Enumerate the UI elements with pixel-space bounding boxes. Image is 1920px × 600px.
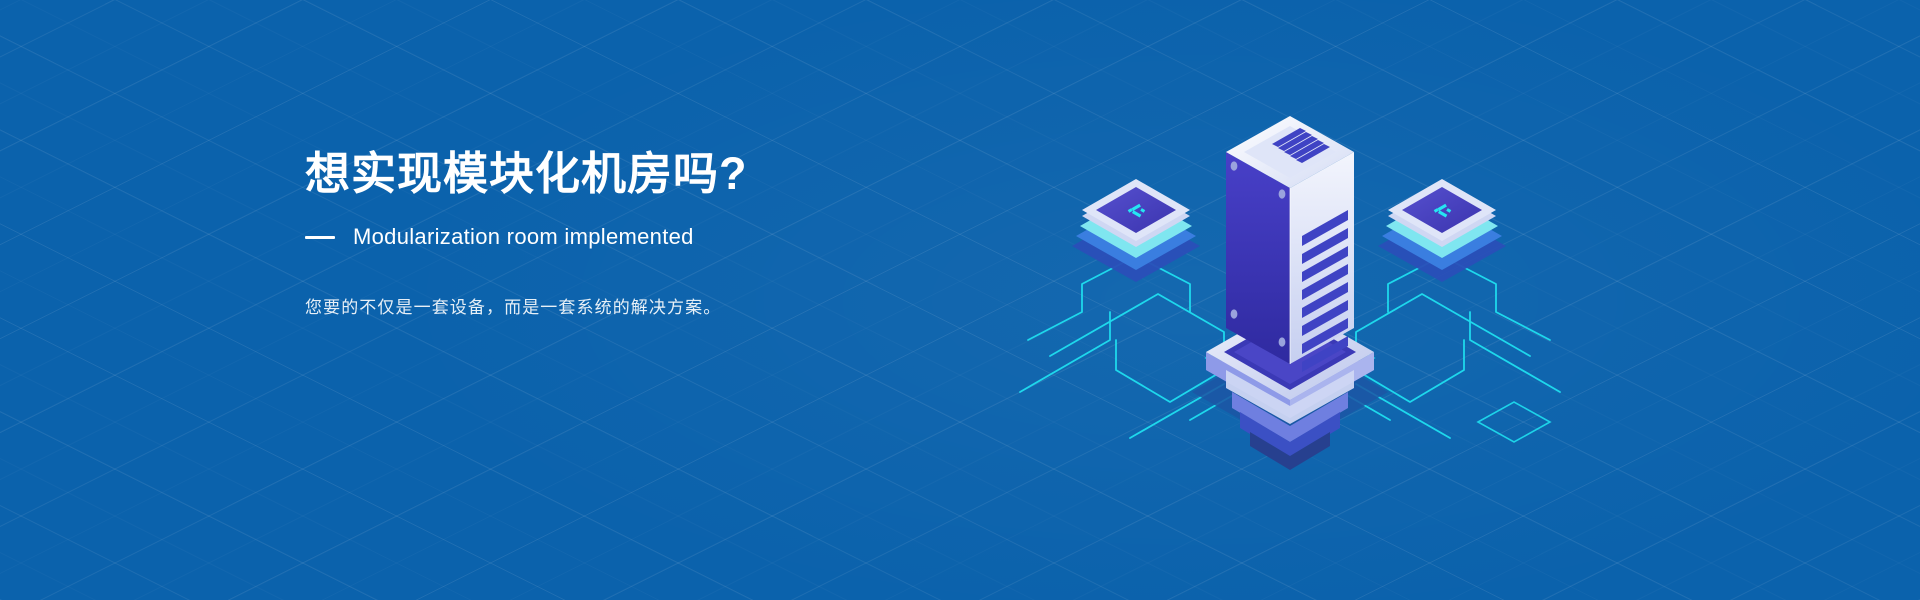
chip-left xyxy=(1072,179,1200,282)
subtitle-english: Modularization room implemented xyxy=(353,224,694,250)
hero-banner: 想实现模块化机房吗? Modularization room implement… xyxy=(0,0,1920,600)
page-title: 想实现模块化机房吗? xyxy=(305,148,1025,200)
chip-right xyxy=(1378,179,1506,282)
dash-marker-icon xyxy=(305,236,335,239)
subtitle-row: Modularization room implemented xyxy=(305,224,1025,250)
isometric-server-illustration xyxy=(1010,40,1570,520)
server-tower xyxy=(1226,116,1354,372)
body-description: 您要的不仅是一套设备，而是一套系统的解决方案。 xyxy=(305,294,1025,323)
banner-copy-block: 想实现模块化机房吗? Modularization room implement… xyxy=(305,148,1025,340)
